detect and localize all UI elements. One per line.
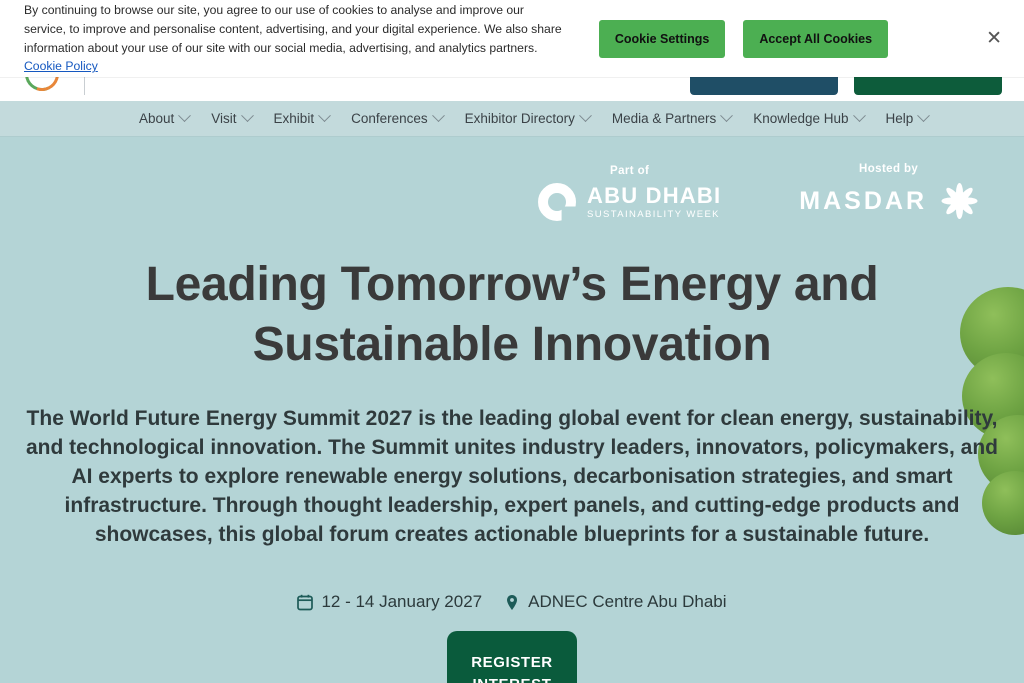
nav-item-label: Exhibit	[274, 111, 315, 126]
cookie-banner-text: By continuing to browse our site, you ag…	[24, 1, 563, 77]
hero-section: Part of ABU DHABI SUSTAINABILITY WEEK Ho…	[0, 137, 1024, 683]
nav-item-media-partners[interactable]: Media & Partners	[601, 111, 742, 126]
nav-item-label: About	[139, 111, 174, 126]
chevron-down-icon	[720, 109, 733, 122]
nav-item-label: Knowledge Hub	[753, 111, 848, 126]
event-venue: ADNEC Centre Abu Dhabi	[504, 592, 726, 612]
chevron-down-icon	[318, 109, 331, 122]
chevron-down-icon	[579, 109, 592, 122]
nav-item-help[interactable]: Help	[875, 111, 940, 126]
nav-item-label: Conferences	[351, 111, 428, 126]
event-date: 12 - 14 January 2027	[297, 592, 482, 612]
calendar-icon	[297, 594, 313, 611]
chevron-down-icon	[432, 109, 445, 122]
accept-all-cookies-button[interactable]: Accept All Cookies	[743, 20, 888, 58]
hero-logos: Part of ABU DHABI SUSTAINABILITY WEEK Ho…	[538, 163, 978, 221]
nav-item-visit[interactable]: Visit	[200, 111, 262, 126]
nav-item-about[interactable]: About	[128, 111, 200, 126]
nav-item-label: Visit	[211, 111, 236, 126]
masdar-pinwheel-icon	[938, 181, 978, 221]
nav-item-exhibitor-directory[interactable]: Exhibitor Directory	[454, 111, 601, 126]
chevron-down-icon	[178, 109, 191, 122]
close-icon[interactable]: ✕	[980, 23, 1008, 54]
partner-logo-name: ABU DHABI	[587, 185, 721, 207]
nav-item-knowledge-hub[interactable]: Knowledge Hub	[742, 111, 874, 126]
nav-item-conferences[interactable]: Conferences	[340, 111, 454, 126]
chevron-down-icon	[853, 109, 866, 122]
event-venue-label: ADNEC Centre Abu Dhabi	[528, 592, 726, 612]
host-logo-name: MASDAR	[799, 187, 927, 216]
partner-logo: Part of ABU DHABI SUSTAINABILITY WEEK	[538, 165, 721, 221]
nav-item-label: Help	[886, 111, 914, 126]
main-navigation: About Visit Exhibit Conferences Exhibito…	[0, 101, 1024, 137]
chevron-down-icon	[241, 109, 254, 122]
host-logo: Hosted by MASDAR	[799, 163, 978, 221]
hero-description: The World Future Energy Summit 2027 is t…	[0, 405, 1024, 550]
page-title: Leading Tomorrow’s Energy and Sustainabl…	[0, 255, 1024, 376]
chevron-down-icon	[917, 109, 930, 122]
cookie-banner-body: By continuing to browse our site, you ag…	[24, 3, 562, 55]
cookie-settings-button[interactable]: Cookie Settings	[599, 20, 725, 58]
partner-logo-subname: SUSTAINABILITY WEEK	[587, 210, 721, 220]
nav-item-label: Media & Partners	[612, 111, 716, 126]
cta-wrap: REGISTER INTEREST	[0, 631, 1024, 683]
abu-dhabi-sustainability-week-ring-icon	[538, 183, 576, 221]
nav-item-exhibit[interactable]: Exhibit	[263, 111, 341, 126]
cookie-policy-link[interactable]: Cookie Policy	[24, 59, 98, 73]
host-logo-kicker: Hosted by	[859, 163, 918, 175]
hero-meta: 12 - 14 January 2027 ADNEC Centre Abu Dh…	[0, 592, 1024, 612]
page-root: About Visit Exhibit Conferences Exhibito…	[0, 0, 1024, 683]
partner-logo-kicker: Part of	[610, 165, 649, 177]
register-interest-button[interactable]: REGISTER INTEREST	[447, 631, 577, 683]
cookie-consent-banner: By continuing to browse our site, you ag…	[0, 0, 1024, 77]
cookie-banner-actions: Cookie Settings Accept All Cookies ✕	[599, 20, 1008, 58]
event-date-label: 12 - 14 January 2027	[321, 592, 482, 612]
location-pin-icon	[504, 594, 520, 611]
nav-item-label: Exhibitor Directory	[465, 111, 575, 126]
